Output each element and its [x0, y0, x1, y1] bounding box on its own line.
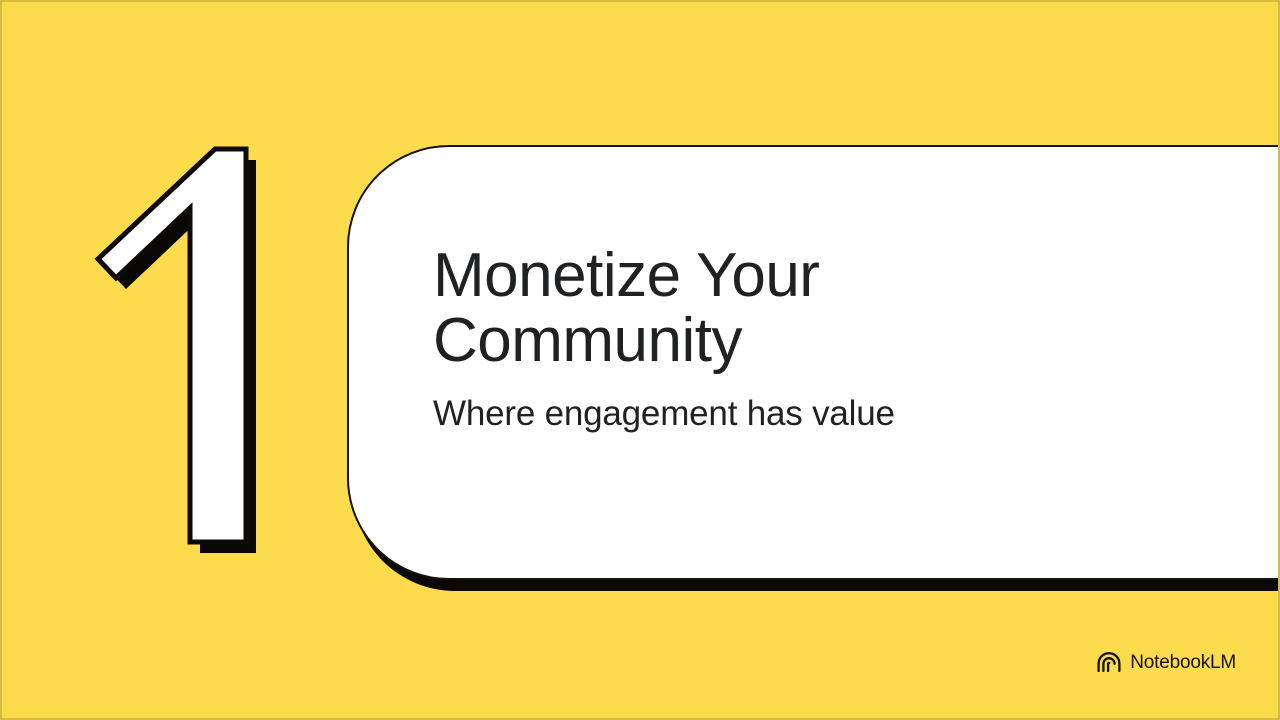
slide-number-one: [64, 122, 364, 582]
brand-lockup: NotebookLM: [1097, 652, 1236, 672]
content-card: Monetize Your Community Where engagement…: [347, 145, 1280, 580]
slide-root: Monetize Your Community Where engagement…: [0, 0, 1280, 720]
notebooklm-spiral-logo-icon: [1097, 652, 1122, 672]
page-title: Monetize Your Community: [433, 243, 993, 373]
card-content: Monetize Your Community Where engagement…: [433, 243, 1265, 434]
brand-name: NotebookLM: [1130, 653, 1236, 672]
page-subtitle: Where engagement has value: [433, 395, 1265, 434]
numeral-one-icon: [64, 122, 364, 582]
